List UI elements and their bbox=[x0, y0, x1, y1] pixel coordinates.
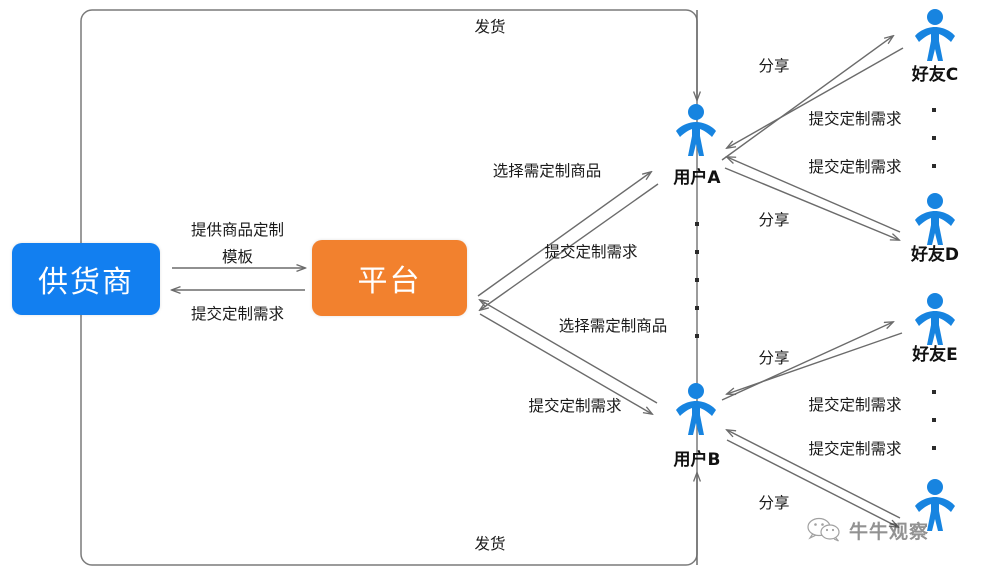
node-platform-label: 平台 bbox=[358, 256, 422, 300]
person-label-friend-c: 好友C bbox=[901, 60, 969, 85]
edge-label-supplier-to-platform-line1: 提供商品定制 bbox=[170, 221, 305, 240]
edge-label-usera-submit: 提交定制需求 bbox=[521, 243, 661, 262]
edge-userb-to-platform-select bbox=[480, 300, 657, 403]
person-icon-user-a bbox=[673, 103, 719, 159]
ellipsis-middle-users bbox=[695, 222, 699, 362]
person-label-user-b: 用户B bbox=[663, 445, 731, 470]
edge-label-share-friendf: 分享 bbox=[746, 494, 802, 513]
person-icon-user-b bbox=[673, 382, 719, 438]
node-platform[interactable]: 平台 bbox=[312, 240, 467, 316]
person-label-user-a: 用户A bbox=[663, 163, 731, 188]
edge-label-usera-select: 选择需定制商品 bbox=[467, 162, 627, 181]
wechat-icon bbox=[806, 516, 842, 544]
edge-label-submit-friende-1: 提交定制需求 bbox=[785, 396, 925, 415]
edge-label-share-friende: 分享 bbox=[746, 349, 802, 368]
edge-label-submit-friendc-2: 提交定制需求 bbox=[785, 158, 925, 177]
edge-label-userb-select: 选择需定制商品 bbox=[533, 317, 693, 336]
ellipsis-friends-top bbox=[932, 108, 936, 192]
edge-usera-share-friendc bbox=[722, 36, 893, 160]
edge-label-ship-top: 发货 bbox=[440, 18, 540, 37]
edge-label-platform-to-supplier: 提交定制需求 bbox=[170, 305, 305, 324]
person-icon-friend-c bbox=[912, 8, 958, 64]
person-label-friend-e: 好友E bbox=[901, 340, 969, 365]
diagram-canvas: 供货商 平台 用户A 用户B 好友C 好友D 好友E bbox=[0, 0, 1000, 578]
edge-platform-to-usera-select bbox=[478, 172, 651, 296]
node-supplier[interactable]: 供货商 bbox=[12, 243, 160, 315]
edge-label-supplier-to-platform-line2: 模板 bbox=[170, 248, 305, 267]
watermark-text: 牛牛观察 bbox=[849, 517, 929, 544]
edge-label-userb-submit: 提交定制需求 bbox=[505, 397, 645, 416]
edge-label-share-friendc: 分享 bbox=[746, 57, 802, 76]
watermark: 牛牛观察 bbox=[806, 508, 996, 552]
edge-label-ship-bottom: 发货 bbox=[440, 535, 540, 554]
edge-label-share-friendd: 分享 bbox=[746, 211, 802, 230]
node-supplier-label: 供货商 bbox=[38, 257, 134, 301]
edge-label-submit-friendc-1: 提交定制需求 bbox=[785, 110, 925, 129]
ellipsis-friends-bottom bbox=[932, 390, 936, 474]
edge-label-submit-friende-2: 提交定制需求 bbox=[785, 440, 925, 459]
person-label-friend-d: 好友D bbox=[901, 240, 969, 265]
